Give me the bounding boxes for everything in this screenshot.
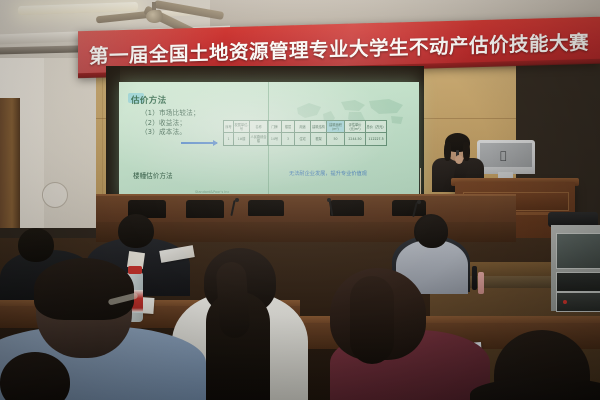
projection-screen: 估价方法 （1）市场比较法； （2）收益法； （3）成本法。 序号 权属单位-号… (119, 82, 419, 200)
slide-title: 估价方法 (131, 94, 167, 106)
chair (248, 200, 284, 216)
apple-logo-icon:  (500, 150, 511, 162)
table-header-cell: 建筑结构 (311, 121, 327, 133)
chair (330, 200, 364, 216)
attendee-front-left-hair (34, 258, 134, 320)
marker-pen (472, 266, 477, 290)
screen-seam (268, 82, 269, 200)
table-header-cell: 总价（万元） (366, 121, 387, 133)
table-cell: 人民路综合楼 (250, 133, 268, 146)
microphone-head-icon (327, 198, 331, 202)
chair (186, 200, 224, 218)
attendee-left-dark-head (18, 228, 54, 262)
table-cell: 框架 (311, 133, 327, 146)
attendee-light-blue-head (416, 216, 448, 248)
table-header-cell: 楼层 (282, 121, 295, 133)
wall-fixture-icon (42, 182, 68, 208)
bottle-cap (128, 266, 142, 274)
table-cell: 1#楼 (234, 133, 250, 146)
power-led-icon (563, 300, 567, 304)
table-cell: 3 (282, 133, 295, 146)
presenter-hand (455, 155, 463, 164)
table-header-cell: 序号 (224, 121, 234, 133)
table-cell: 14号 (268, 133, 282, 146)
presenter-hair-side (444, 142, 451, 161)
table-cell: 住宅 (295, 133, 311, 146)
slide-arrow-icon (181, 142, 217, 144)
slide-bullet-item: （1）市场比较法； (141, 109, 200, 119)
attendee-ponytail (215, 261, 250, 339)
table-header-cell: 权属单位-号 (234, 121, 250, 133)
table-row: 1 1#楼 人民路综合楼 14号 3 住宅 框架 50 2244.50 1122… (224, 133, 387, 146)
slide-bullet-item: （3）成本法。 (141, 128, 200, 138)
microphone-head-icon (417, 200, 421, 204)
table-header-cell: 名称 (250, 121, 268, 133)
door-frame-left (0, 98, 20, 228)
microphone-head-icon (235, 198, 239, 202)
slide-data-table: 序号 权属单位-号 名称 门牌 楼层 用途 建筑结构 建筑面积（m²） 评估单价… (223, 120, 387, 146)
slide-bullet-list: （1）市场比较法； （2）收益法； （3）成本法。 (141, 109, 200, 138)
table-cell: 50 (327, 133, 345, 146)
slide-footer-right: 无法耐企业发展，提升专业价值观 (289, 170, 367, 177)
table-header-cell: 门牌 (268, 121, 282, 133)
slide-footer-left: 楼幢估价方法 (133, 170, 173, 180)
table-cell: 112227.5 (366, 133, 387, 146)
table-header-row: 序号 权属单位-号 名称 门牌 楼层 用途 建筑结构 建筑面积（m²） 评估单价… (224, 121, 387, 133)
table-header-cell: 建筑面积（m²） (327, 121, 345, 133)
table-header-cell: 评估单价（元/m²） (345, 121, 366, 133)
table-header-cell: 用途 (295, 121, 311, 133)
table-cell: 2244.50 (345, 133, 366, 146)
table-cell: 1 (224, 133, 234, 146)
rack-bay (556, 233, 600, 269)
attendee-center-suit-head (118, 214, 154, 248)
lecture-hall-photo: 第一届全国土地资源管理专业大学生不动产估价技能大赛 估价方法 （1）市场比较法；… (0, 0, 600, 400)
presenter-hair-side (463, 142, 470, 161)
slide-bullet-item: （2）收益法； (141, 119, 200, 129)
fan-hub (146, 10, 163, 23)
marker-pen (478, 272, 484, 294)
attendee-maroon-ponytail (350, 276, 394, 364)
rack-bay (556, 272, 600, 292)
